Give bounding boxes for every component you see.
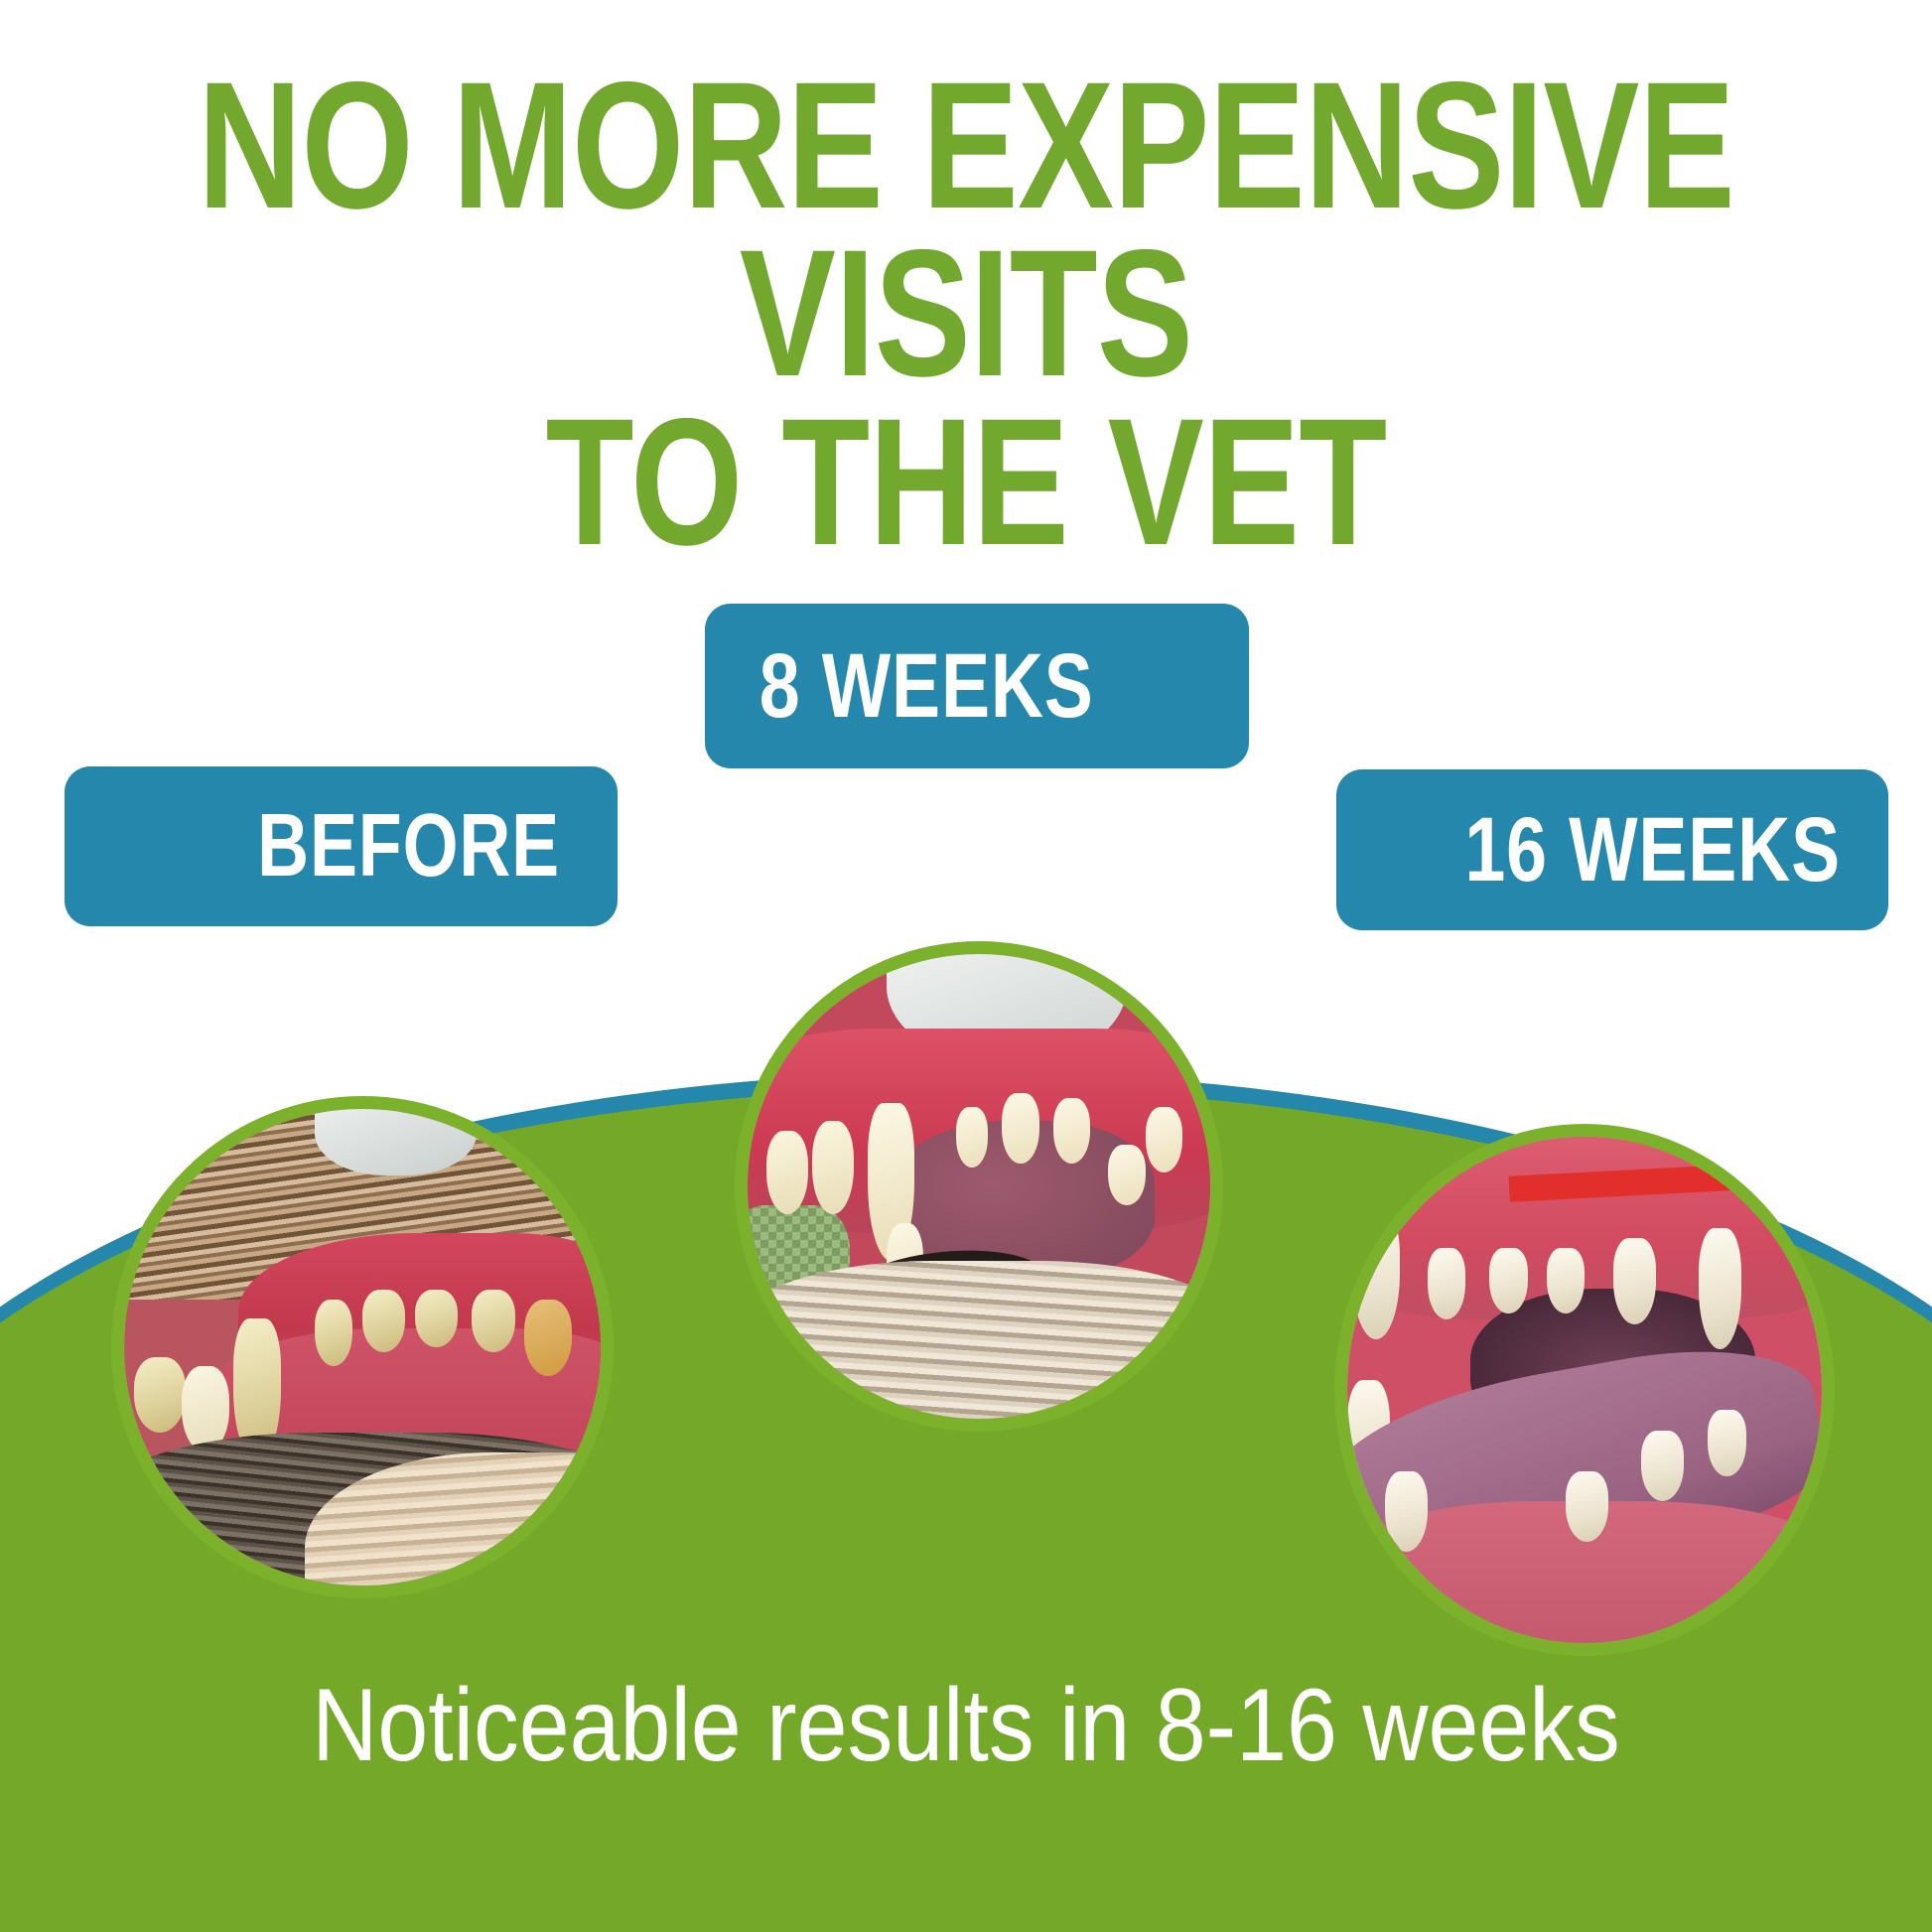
week8-photo-image <box>748 954 1210 1419</box>
week16-photo-image <box>1347 1137 1822 1643</box>
badge-before-label: BEFORE <box>164 795 560 897</box>
badge-before[interactable]: BEFORE <box>65 766 618 926</box>
badge-8-weeks-label: 8 WEEKS <box>759 634 1194 739</box>
badge-16-weeks[interactable]: 16 WEEKS <box>1336 769 1888 930</box>
week16-photo <box>1334 1124 1835 1656</box>
page-title: NO MORE EXPENSIVE VISITS TO THE VET <box>194 62 1739 566</box>
results-caption: Noticeable results in 8-16 weeks <box>116 1674 1816 1777</box>
badge-16-weeks-label: 16 WEEKS <box>1438 798 1841 902</box>
before-photo <box>111 1096 614 1598</box>
badge-8-weeks[interactable]: 8 WEEKS <box>705 604 1249 768</box>
week8-photo <box>735 941 1223 1432</box>
before-photo-image <box>124 1109 601 1586</box>
promo-graphic: NO MORE EXPENSIVE VISITS TO THE VET Noti… <box>0 0 1932 1932</box>
